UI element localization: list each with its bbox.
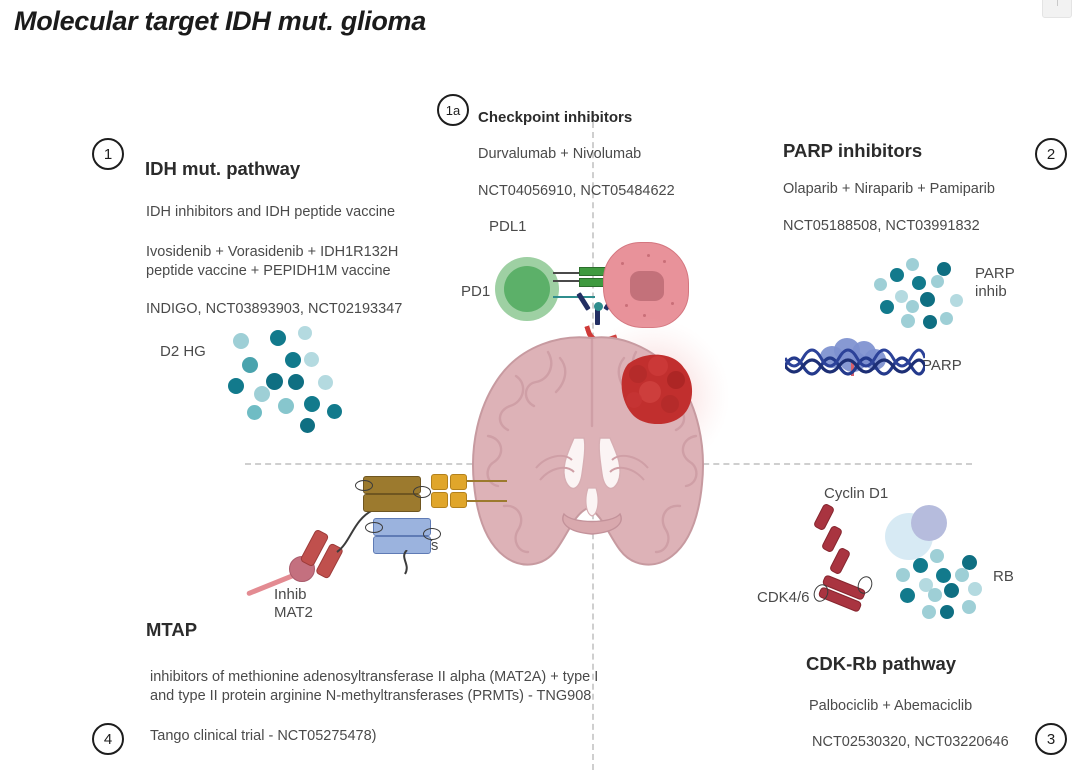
heading-mtap: MTAP [146,619,197,641]
tumour-cell-icon [603,242,689,328]
marker-1a: 1a [437,94,469,126]
brain-illustration [452,318,732,608]
tumour-mass [622,355,692,424]
label-d2hg: D2 HG [160,343,206,361]
label-pd1: PD1 [461,283,490,301]
mtap-line-2: Tango clinical trial - NCT05275478) [150,727,376,746]
label-pdl1: PDL1 [489,218,527,236]
marker-3: 3 [1035,723,1067,755]
idh-line-3: INDIGO, NCT03893903, NCT02193347 [146,300,402,319]
heading-checkpoint: Checkpoint inhibitors [478,109,632,126]
marker-2: 2 [1035,138,1067,170]
parp-line-1: Olaparib + Niraparib + Pamiparib [783,180,995,199]
label-parp: PARP [922,357,962,375]
prmt-illustration [245,470,475,600]
label-rb: RB [993,568,1014,586]
checkpoint-line-2: NCT04056910, NCT05484622 [478,182,675,201]
cdk-line-1: Palbociclib + Abemaciclib [809,697,972,716]
window-chip-icon [1042,0,1072,18]
checkpoint-line-1: Durvalumab + Nivolumab [478,145,641,164]
heading-parp: PARP inhibitors [783,140,922,162]
parp-line-2: NCT05188508, NCT03991832 [783,217,980,236]
idh-line-1: IDH inhibitors and IDH peptide vaccine [146,203,395,222]
label-parp-inhib: PARP inhib [975,265,1015,301]
idh-line-2: Ivosidenib + Vorasidenib + IDH1R132H pep… [146,243,398,281]
heading-idh-pathway: IDH mut. pathway [145,158,300,180]
marker-4: 4 [92,723,124,755]
dna-helix-icon [785,340,925,378]
mtap-line-1: inhibitors of methionine adenosyltransfe… [150,668,598,706]
figure-title: Molecular target IDH mut. glioma [14,6,426,37]
marker-1: 1 [92,138,124,170]
t-cell-icon [495,257,559,321]
cdk-line-2: NCT02530320, NCT03220646 [812,733,1009,752]
figure-canvas: Molecular target IDH mut. glioma 1 IDH m… [0,0,1080,770]
cdk46-icon [800,500,890,620]
heading-cdk: CDK-Rb pathway [806,653,956,675]
